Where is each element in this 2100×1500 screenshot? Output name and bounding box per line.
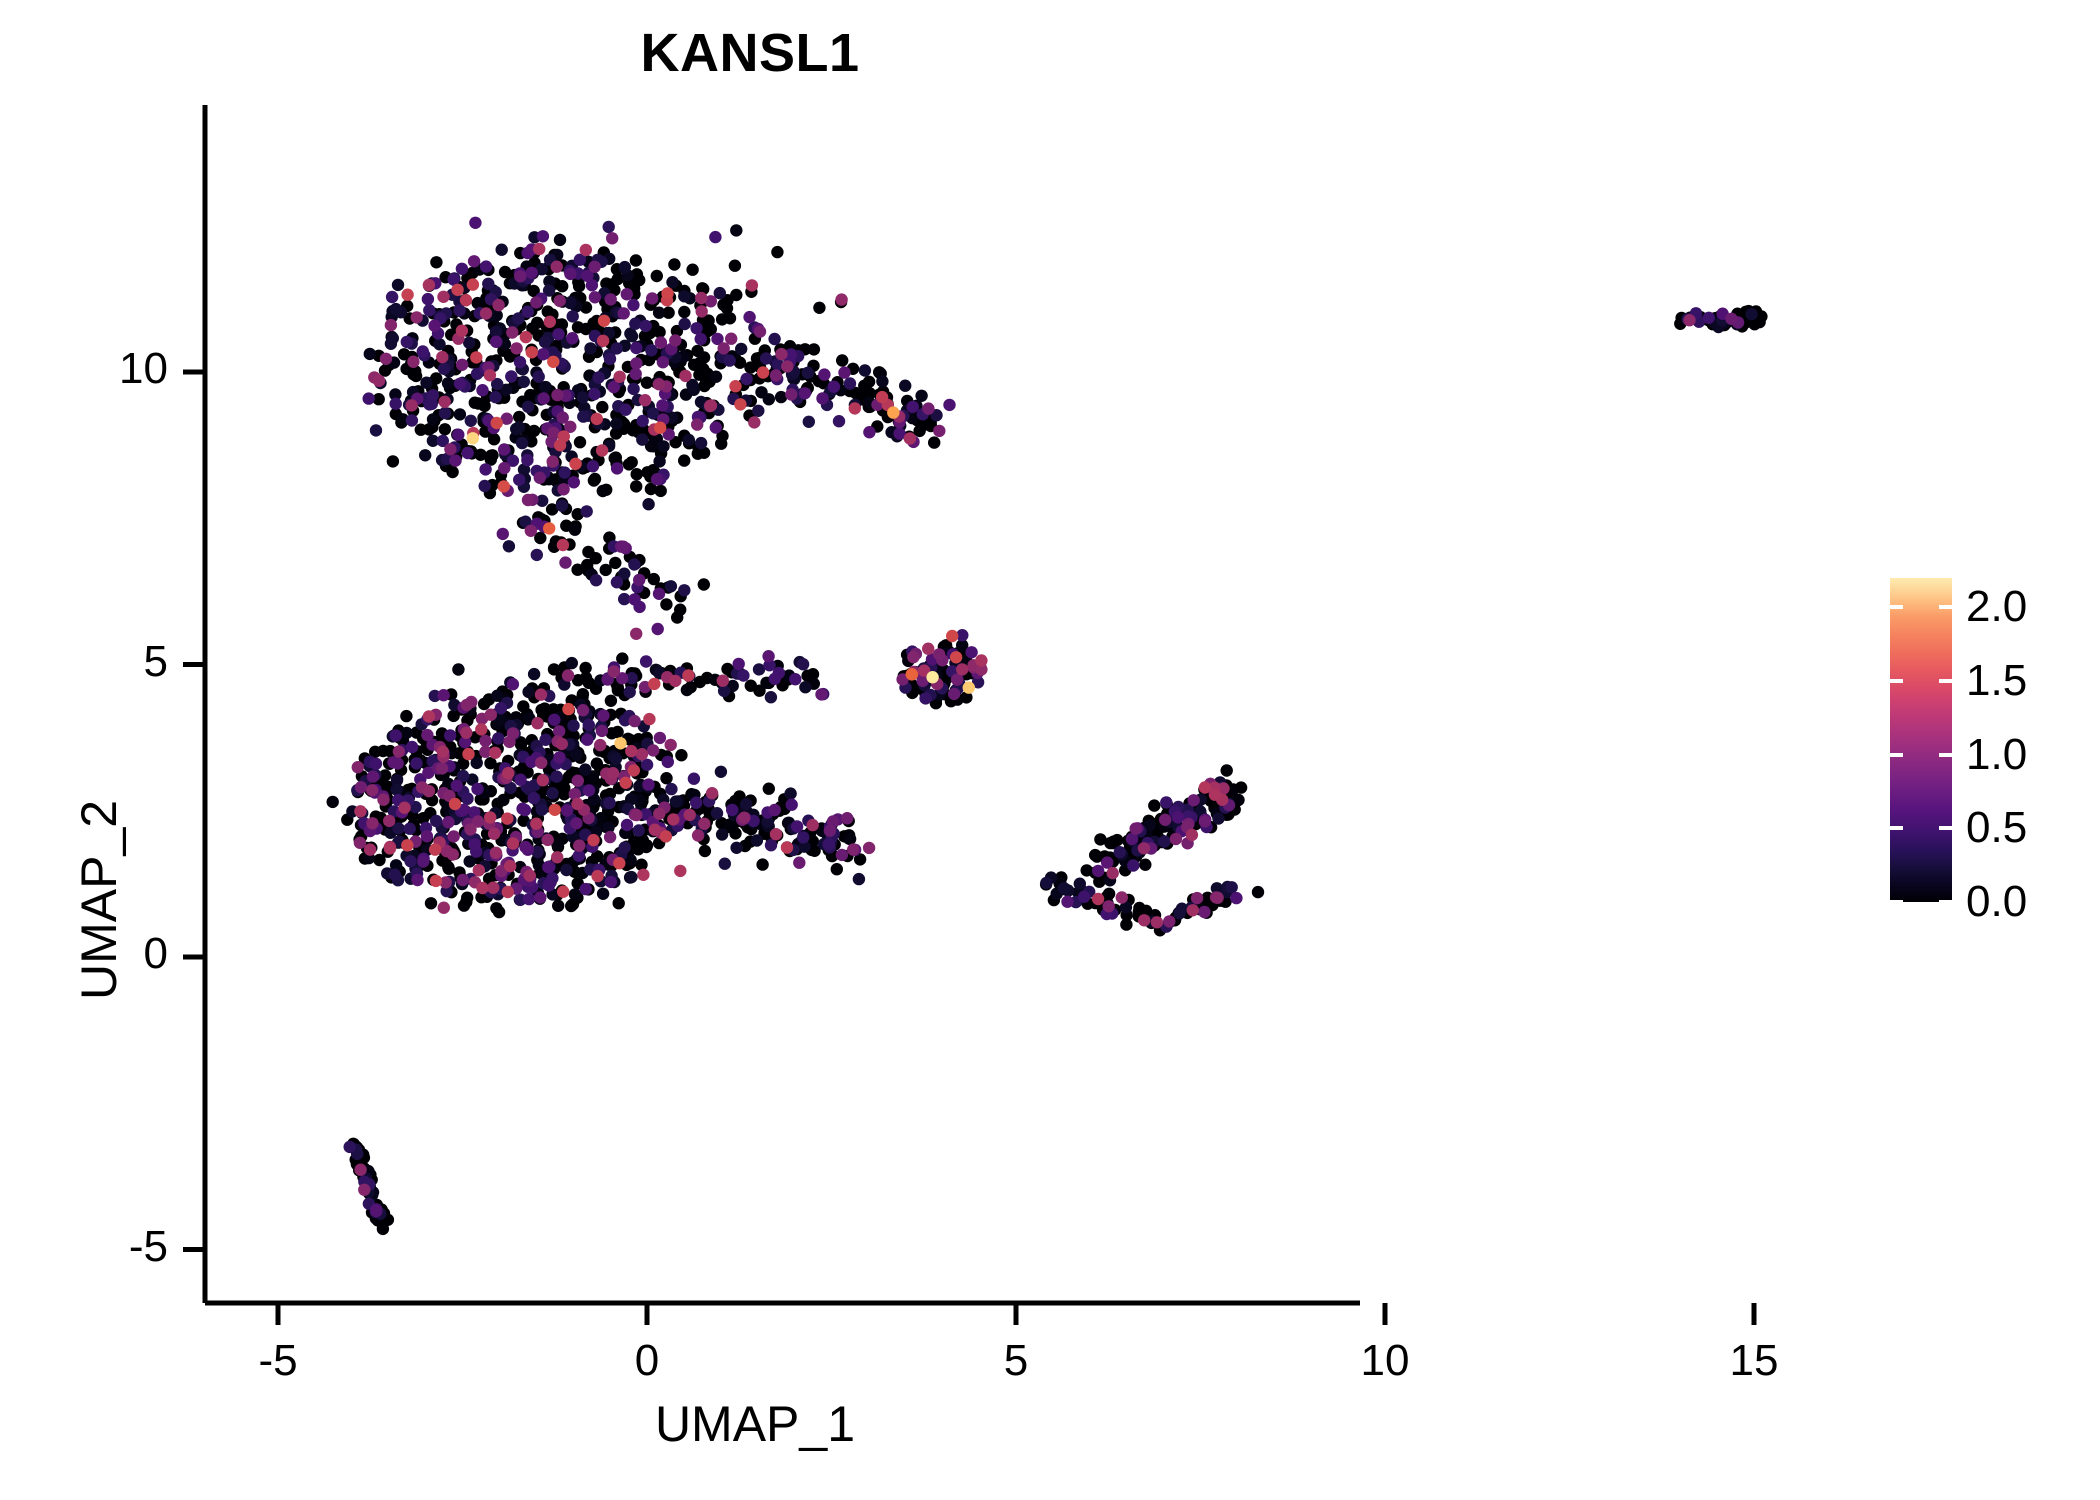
y-tick-label: -5 [28,1222,168,1272]
data-point [797,831,809,843]
data-point [863,426,875,438]
data-point [1187,904,1199,916]
data-point [641,377,653,389]
data-point [506,326,518,338]
data-point [612,684,624,696]
x-tick-label: 10 [1315,1336,1455,1386]
data-point [719,858,731,870]
data-point [803,416,815,428]
data-point [661,287,673,299]
data-point [1221,764,1233,776]
data-point [681,684,693,696]
colorbar-tick-mark [1939,900,1952,904]
data-point [480,307,492,319]
data-point [815,688,827,700]
data-point [364,843,376,855]
colorbar-tick-mark [1939,605,1952,609]
colorbar-tick-label: 2.0 [1966,582,2027,632]
x-tick-label: 0 [577,1336,717,1386]
data-point [781,360,793,372]
data-point [643,713,655,725]
data-point [383,815,395,827]
data-point [674,604,686,616]
data-point [765,839,777,851]
data-point [581,505,593,517]
data-point [469,217,481,229]
data-point [489,747,501,759]
y-tick-label: 0 [28,929,168,979]
data-point [510,342,522,354]
data-point [423,710,435,722]
data-point [697,363,709,375]
data-point [498,443,510,455]
data-point [604,353,616,365]
data-point [570,749,582,761]
data-point [352,761,364,773]
data-point [439,396,451,408]
data-point [802,367,814,379]
data-point [619,404,631,416]
data-point [543,861,555,873]
data-point [642,778,654,790]
data-point [406,414,418,426]
data-point [705,399,717,411]
data-point [597,485,609,497]
data-point [733,658,745,670]
data-point [456,325,468,337]
data-point [366,784,378,796]
data-point [651,270,663,282]
data-point [751,834,763,846]
y-axis-ticks [183,372,205,1250]
data-point [656,399,668,411]
data-point [1074,878,1086,890]
data-point [1138,842,1150,854]
data-point [422,293,434,305]
data-point [400,710,412,722]
data-point [946,630,958,642]
data-point [548,714,560,726]
data-point [669,334,681,346]
data-point [484,369,496,381]
data-point [534,891,546,903]
data-point [678,290,690,302]
data-point [726,804,738,816]
data-point [452,663,464,675]
data-point [807,819,819,831]
data-point [636,433,648,445]
data-point [833,415,845,427]
data-point [1745,308,1757,320]
data-point [556,499,568,511]
data-point [542,834,554,846]
data-point [442,816,454,828]
data-point [715,766,727,778]
data-point [1127,859,1139,871]
data-point [583,719,595,731]
colorbar-tick-label: 0.0 [1966,877,2027,927]
data-point [571,798,583,810]
data-point [1116,891,1128,903]
data-point [467,278,479,290]
data-point [906,668,918,680]
data-point [596,401,608,413]
data-point [401,839,413,851]
umap-feature-plot: KANSL1 UMAP_1 UMAP_2 -5051015 -50510 0.0… [0,0,2100,1500]
data-point [454,408,466,420]
data-point [535,688,547,700]
data-point [730,842,742,854]
data-point [427,389,439,401]
data-point [899,380,911,392]
data-point [452,429,464,441]
data-point [354,837,366,849]
data-point [425,897,437,909]
data-point [604,831,616,843]
data-point [919,692,931,704]
data-point [610,418,622,430]
data-point [438,902,450,914]
data-point [518,376,530,388]
data-point [813,302,825,314]
data-point [771,246,783,258]
data-point [364,348,376,360]
data-point [965,646,977,658]
data-point [490,902,502,914]
data-point [551,389,563,401]
data-point [539,381,551,393]
data-point [723,354,735,366]
data-point [605,293,617,305]
data-point [786,799,798,811]
data-point [1212,812,1224,824]
data-point [393,745,405,757]
colorbar-tick-mark [1939,753,1952,757]
data-point [785,388,797,400]
data-point [678,306,690,318]
data-point [754,325,766,337]
data-point [824,825,836,837]
data-point [1151,916,1163,928]
data-point [653,455,665,467]
colorbar-tick-mark [1890,753,1903,757]
data-point [717,675,729,687]
data-point [907,651,919,663]
colorbar-tick-label: 1.5 [1966,656,2027,706]
colorbar-tick-label: 0.5 [1966,803,2027,853]
data-point [628,715,640,727]
data-point [485,709,497,721]
data-point [831,863,843,875]
y-tick-label: 5 [28,637,168,687]
data-point [487,882,499,894]
data-point [933,425,945,437]
data-point [710,421,722,433]
data-point [698,380,710,392]
data-point [407,356,419,368]
data-point [975,654,987,666]
data-point [401,289,413,301]
data-point [605,695,617,707]
data-point [473,864,485,876]
data-point [564,268,576,280]
data-point [533,371,545,383]
data-point [392,279,404,291]
data-point [579,763,591,775]
data-point [539,702,551,714]
data-point [844,377,856,389]
data-point [605,876,617,888]
data-point [734,398,746,410]
data-point [562,703,574,715]
data-point [457,874,469,886]
data-point [853,873,865,885]
data-point [630,809,642,821]
data-point [956,663,968,675]
data-point [597,709,609,721]
data-point [653,808,665,820]
data-point [538,392,550,404]
data-point [490,336,502,348]
data-point [505,370,517,382]
data-point [1198,906,1210,918]
data-point [618,307,630,319]
data-point [706,787,718,799]
data-point [544,316,556,328]
data-point [757,366,769,378]
data-point [367,770,379,782]
data-point [507,837,519,849]
data-point [668,258,680,270]
data-point [628,558,640,570]
data-point [859,364,871,376]
data-point [531,717,543,729]
data-point [482,278,494,290]
data-point [589,291,601,303]
data-point [536,803,548,815]
data-point [469,397,481,409]
data-point [791,820,803,832]
data-point [926,671,938,683]
data-point [836,849,848,861]
data-point [1174,907,1186,919]
data-point [690,322,702,334]
data-point [569,888,581,900]
data-point [479,463,491,475]
data-point [404,855,416,867]
data-point [653,307,665,319]
data-point [799,387,811,399]
data-point [543,522,555,534]
data-point [943,399,955,411]
data-point [390,398,402,410]
data-point [496,244,508,256]
data-point [398,802,410,814]
data-point [647,744,659,756]
data-point [526,267,538,279]
data-point [748,416,760,428]
data-point [725,333,737,345]
data-point [480,260,492,272]
x-tick-label: 5 [946,1336,1086,1386]
data-point [614,371,626,383]
data-point [547,356,559,368]
data-point [818,368,830,380]
data-point [539,734,551,746]
data-point [548,663,560,675]
data-point [385,319,397,331]
data-point [430,815,442,827]
data-point [533,243,545,255]
data-point [735,343,747,355]
data-point [797,658,809,670]
data-point [557,886,569,898]
data-point [679,318,691,330]
data-point [1188,794,1200,806]
data-point [569,524,581,536]
data-point [1101,856,1113,868]
data-point [469,838,481,850]
data-point [646,292,658,304]
data-point [417,345,429,357]
data-point [488,433,500,445]
data-point [528,792,540,804]
data-point [560,864,572,876]
data-point [423,304,435,316]
data-point [525,525,537,537]
data-point [471,783,483,795]
data-point [611,576,623,588]
data-point [629,318,641,330]
data-point [1226,881,1238,893]
data-point [354,1164,366,1176]
data-point [613,897,625,909]
data-point [841,812,853,824]
data-point [523,893,535,905]
data-point [695,292,707,304]
data-point [524,869,536,881]
data-point [476,384,488,396]
data-point [461,699,473,711]
data-point [591,413,603,425]
data-point [683,434,695,446]
data-point [603,797,615,809]
data-point [642,498,654,510]
data-point [621,819,633,831]
data-point [520,331,532,343]
data-point [724,312,736,324]
data-point [950,651,962,663]
data-point [730,224,742,236]
data-point [410,757,422,769]
data-point [1078,891,1090,903]
data-point [651,473,663,485]
data-point [698,351,710,363]
data-point [588,261,600,273]
data-point [591,870,603,882]
data-point [574,436,586,448]
data-point [567,310,579,322]
data-point [475,723,487,735]
data-point [933,648,945,660]
data-point [436,351,448,363]
data-point [385,338,397,350]
data-point [648,573,660,585]
data-point [628,593,640,605]
data-point [557,483,569,495]
data-point [1230,892,1242,904]
data-point [660,830,672,842]
data-point [760,352,772,364]
data-point [530,296,542,308]
data-point [462,748,474,760]
data-point [696,305,708,317]
data-point [444,729,456,741]
data-point [594,739,606,751]
data-point [627,299,639,311]
data-point [716,828,728,840]
data-point [1252,886,1264,898]
data-point [513,474,525,486]
data-point [428,320,440,332]
data-point [531,549,543,561]
data-point [470,351,482,363]
data-point [461,792,473,804]
data-point [789,673,801,685]
data-point [770,369,782,381]
data-point [531,317,543,329]
data-point [637,415,649,427]
data-point [468,255,480,267]
data-point [745,680,757,692]
data-point [354,805,366,817]
data-point [628,764,640,776]
data-point [521,454,533,466]
data-point [630,254,642,266]
data-point [630,357,642,369]
data-point [476,882,488,894]
data-point [630,342,642,354]
data-point [793,857,805,869]
data-point [670,795,682,807]
data-point [948,688,960,700]
data-point [373,375,385,387]
data-point [390,303,402,315]
data-point [624,686,636,698]
data-point [743,311,755,323]
data-point [463,337,475,349]
data-point [715,438,727,450]
data-point [439,407,451,419]
data-point [551,851,563,863]
data-point [572,775,584,787]
data-point [1114,846,1126,858]
data-point [358,1184,370,1196]
data-point [630,480,642,492]
data-point [513,421,525,433]
data-point [674,865,686,877]
data-point [566,657,578,669]
data-point [623,458,635,470]
data-point [421,729,433,741]
data-point [835,293,847,305]
data-point [498,480,510,492]
data-point [657,440,669,452]
data-point [543,879,555,891]
data-point [370,758,382,770]
data-point [448,830,460,842]
data-point [607,767,619,779]
